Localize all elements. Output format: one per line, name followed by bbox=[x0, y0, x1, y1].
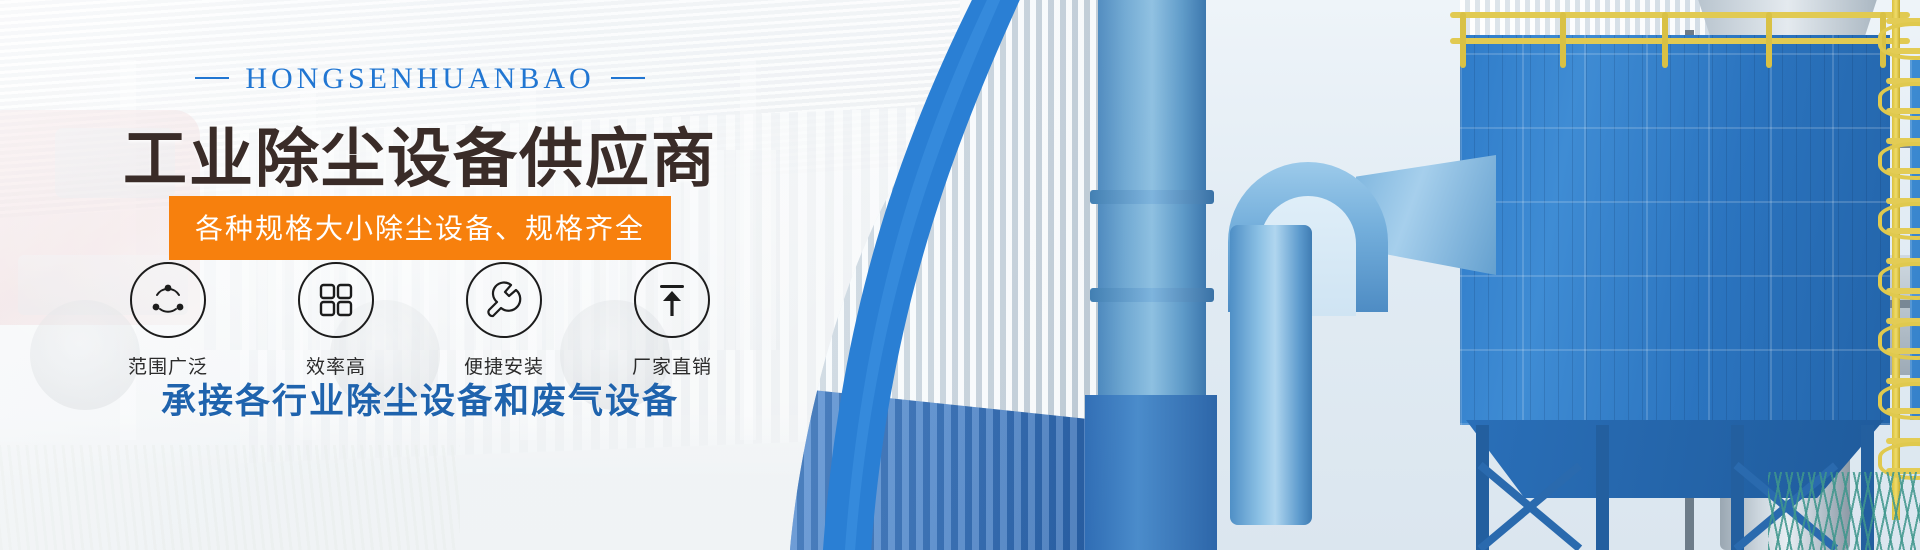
share-nodes-icon bbox=[149, 281, 187, 319]
feature-icon-circle bbox=[130, 262, 206, 338]
page-title: 工业除尘设备供应商 bbox=[0, 108, 840, 200]
hero-content: HONGSENHUANBAO 工业除尘设备供应商 各种规格大小除尘设备、规格齐全… bbox=[0, 0, 1010, 550]
grid-squares-icon bbox=[318, 282, 354, 318]
feature-icon-circle bbox=[466, 262, 542, 338]
kicker-text: HONGSENHUANBAO bbox=[245, 62, 594, 95]
tagline: 承接各行业除尘设备和废气设备 bbox=[0, 373, 840, 424]
arrow-up-bar-icon bbox=[654, 281, 690, 319]
feature-item-install[interactable]: 便捷安装 bbox=[448, 262, 560, 379]
badge-container: 各种规格大小除尘设备、规格齐全 bbox=[0, 196, 840, 260]
kicker-dash-right bbox=[611, 77, 645, 79]
wrench-icon bbox=[484, 280, 524, 320]
kicker-dash-left bbox=[195, 77, 229, 79]
feature-icon-circle bbox=[634, 262, 710, 338]
feature-list: 范围广泛 效率高 bbox=[0, 262, 840, 379]
feature-item-efficiency[interactable]: 效率高 bbox=[280, 262, 392, 379]
status-badge: 各种规格大小除尘设备、规格齐全 bbox=[169, 196, 671, 260]
hero-banner: HONGSENHUANBAO 工业除尘设备供应商 各种规格大小除尘设备、规格齐全… bbox=[0, 0, 1920, 550]
feature-icon-circle bbox=[298, 262, 374, 338]
brand-kicker: HONGSENHUANBAO bbox=[0, 62, 840, 96]
feature-item-range[interactable]: 范围广泛 bbox=[112, 262, 224, 379]
feature-item-factory-direct[interactable]: 厂家直销 bbox=[616, 262, 728, 379]
